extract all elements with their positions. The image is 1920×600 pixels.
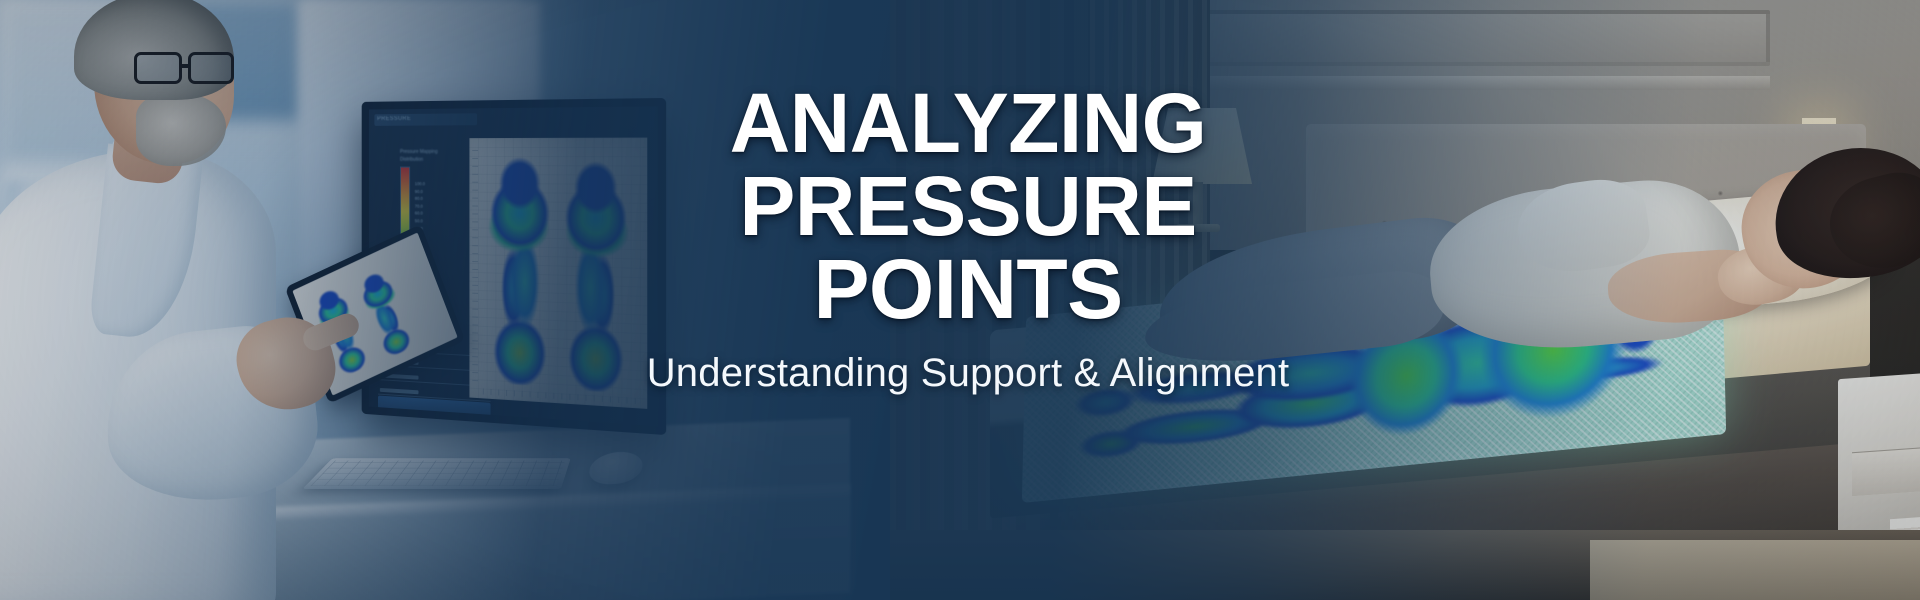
hero-banner: PRESSURE Pressure Mapping Distribution 1…: [0, 0, 1920, 600]
eyeglasses-icon: [134, 52, 244, 88]
page-title: ANALYZING PRESSURE POINTS: [560, 82, 1376, 331]
beard: [136, 94, 226, 166]
headline-line-2: PRESSURE: [560, 165, 1376, 248]
hero-copy: ANALYZING PRESSURE POINTS Understanding …: [560, 82, 1376, 396]
keyboard[interactable]: [302, 458, 570, 489]
area-rug: [1590, 540, 1920, 600]
clinician-figure: [0, 0, 316, 600]
hero-subtitle: Understanding Support & Alignment: [560, 351, 1376, 396]
nightstand-drawer: [1852, 444, 1920, 497]
headline-line-1: ANALYZING: [560, 82, 1376, 165]
headline-line-3: POINTS: [560, 248, 1376, 331]
